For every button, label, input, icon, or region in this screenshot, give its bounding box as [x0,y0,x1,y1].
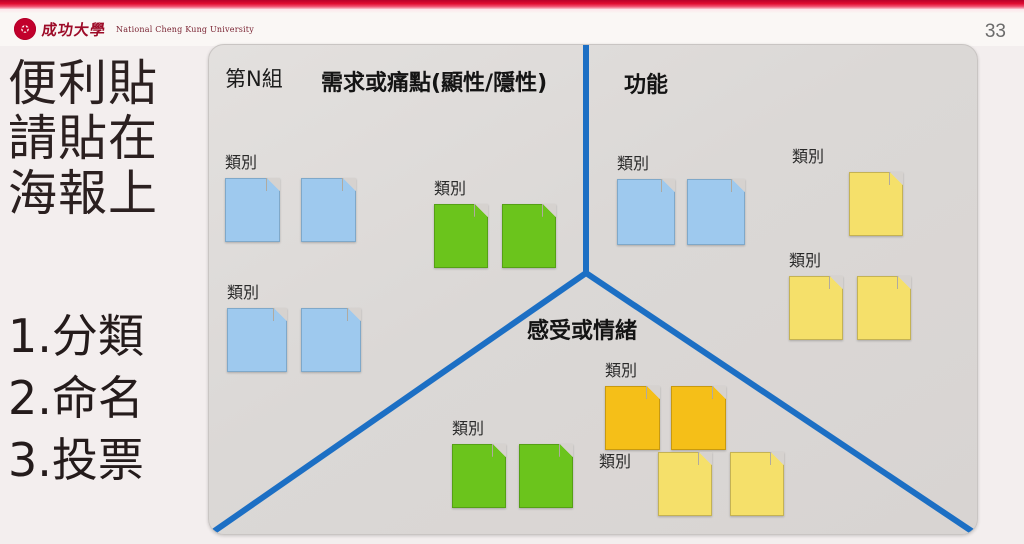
note-fold-icon [698,452,712,465]
note-cluster-need-blue-2: 類別 [227,279,361,372]
note-fold-icon [731,179,745,192]
note-fold-icon [474,204,488,217]
note-fold-icon [646,386,660,399]
sticky-note[interactable] [857,276,911,340]
category-label: 類別 [452,415,573,439]
slide-header: 成功大學 National Cheng Kung University 33 [0,13,1024,46]
group-label: 第N組 [225,63,283,93]
instruction-line-2: 請貼在 [8,111,200,166]
note-fold-icon [542,204,556,217]
note-cluster-function-yellow-2: 類別 [789,247,911,340]
instruction-line-3: 海報上 [8,166,200,221]
note-cluster-need-blue-1: 類別 [225,149,356,242]
sticky-note[interactable] [687,179,745,245]
instructions-block: 便利貼 請貼在 海報上 [8,56,200,221]
step-item-1: 1.分類 [8,305,144,367]
category-label: 類別 [434,175,556,199]
sticky-note[interactable] [434,204,488,268]
note-cluster-feeling-orange: 類別 [605,357,726,450]
note-fold-icon [342,178,356,191]
note-fold-icon [712,386,726,399]
note-fold-icon [770,452,784,465]
sticky-note[interactable] [452,444,506,508]
category-label: 類別 [225,149,356,173]
step-item-3: 3.投票 [8,429,144,491]
sticky-note[interactable] [617,179,675,245]
category-label: 類別 [617,150,745,174]
notes-row [452,444,573,508]
notes-row [617,179,745,245]
note-cluster-feeling-green: 類別 [452,415,573,508]
note-fold-icon [266,178,280,191]
notes-row [849,172,903,236]
sticky-note[interactable] [658,452,712,516]
sticky-note[interactable] [671,386,726,450]
note-fold-icon [492,444,506,457]
note-fold-icon [661,179,675,192]
category-label: 類別 [792,143,903,167]
notes-row [605,386,726,450]
note-cluster-need-green: 類別 [434,175,556,268]
sticky-note[interactable] [301,308,361,372]
notes-row [227,308,361,372]
notes-row [434,204,556,268]
zone-title-need: 需求或痛點(顯性/隱性) [321,65,547,97]
note-cluster-feeling-yellow: 類別 [599,448,784,516]
note-fold-icon [889,172,903,185]
page-number: 33 [985,21,1006,43]
notes-row [225,178,356,242]
category-label: 類別 [789,247,911,271]
category-label: 類別 [227,279,361,303]
note-fold-icon [559,444,573,457]
zone-title-feeling: 感受或情緒 [527,313,637,345]
university-logo: 成功大學 National Cheng Kung University [14,18,254,40]
instruction-line-1: 便利貼 [8,56,200,111]
sticky-note[interactable] [301,178,356,242]
sticky-note[interactable] [519,444,573,508]
sticky-note[interactable] [730,452,784,516]
notes-row [789,276,911,340]
note-cluster-function-yellow-1: 類別 [792,143,903,236]
steps-list: 1.分類 2.命名 3.投票 [8,305,144,491]
sticky-note[interactable] [227,308,287,372]
note-fold-icon [273,308,287,321]
sticky-note[interactable] [225,178,280,242]
zone-title-function: 功能 [624,67,668,99]
note-fold-icon [347,308,361,321]
note-fold-icon [829,276,843,289]
notes-row [658,452,784,516]
top-red-band [0,0,1024,9]
note-cluster-function-blue: 類別 [617,150,745,245]
poster-panel: 第N組 需求或痛點(顯性/隱性) 功能 感受或情緒 類別 類別 類別 類別 類別 [208,44,978,535]
logo-english-name: National Cheng Kung University [116,25,254,34]
logo-chinese-name: 成功大學 [41,19,107,40]
category-label: 類別 [605,357,726,381]
sticky-note[interactable] [605,386,660,450]
sticky-note[interactable] [849,172,903,236]
sticky-note[interactable] [502,204,556,268]
step-item-2: 2.命名 [8,367,144,429]
note-fold-icon [897,276,911,289]
sticky-note[interactable] [789,276,843,340]
ncku-plum-blossom-seal-icon [14,18,36,40]
